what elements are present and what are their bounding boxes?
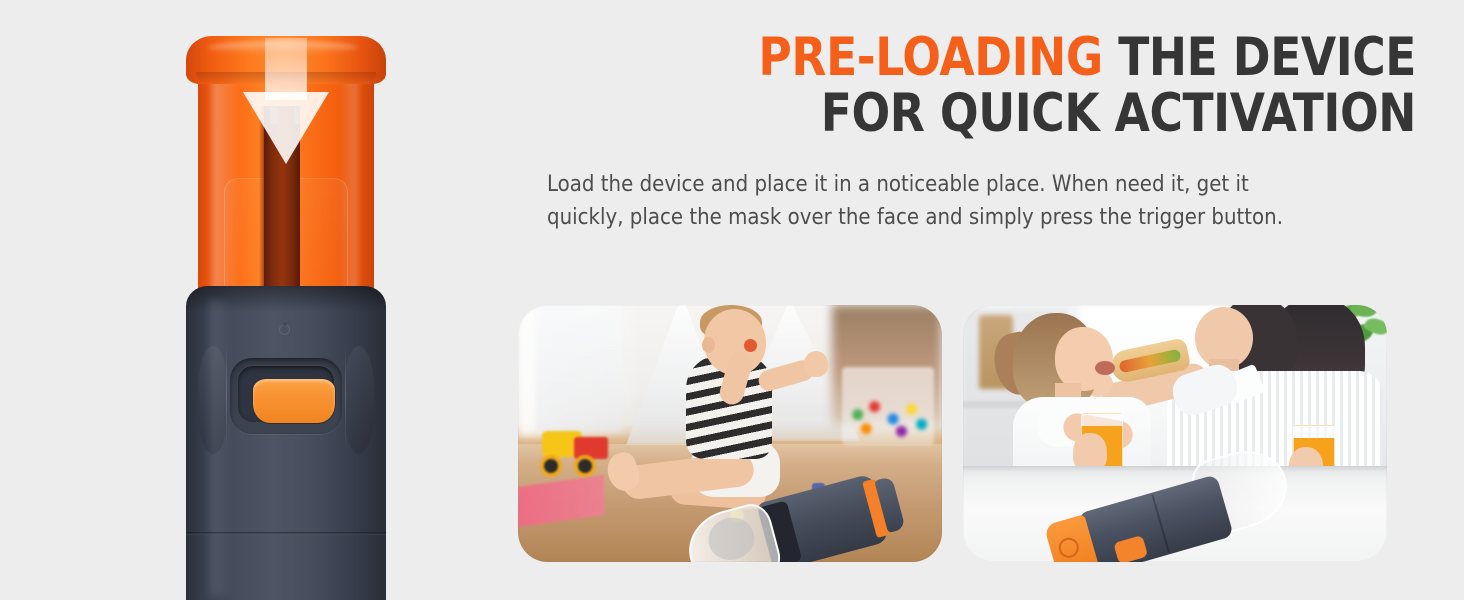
headline-line1-rest: THE DEVICE (1118, 27, 1416, 88)
arrow-shaft (265, 38, 307, 100)
toy-storage-bin (842, 367, 934, 445)
kitchen-scene (963, 305, 1387, 562)
device-housing (186, 286, 386, 600)
description-paragraph: Load the device and place it in a notice… (547, 168, 1294, 234)
baby-ear (702, 337, 715, 353)
headline-line2: FOR QUICK ACTIVATION (821, 83, 1416, 144)
photo-card-family-kitchen (963, 305, 1387, 562)
trigger-recess-inner (237, 365, 335, 423)
arrow-head (243, 92, 329, 164)
trigger-button[interactable] (252, 378, 336, 424)
girl-head (1055, 327, 1113, 391)
product-feature-banner: PRE-LOADING THE DEVICEFOR QUICK ACTIVATI… (0, 0, 1464, 600)
housing-edge-left (226, 342, 227, 452)
press-down-arrow-icon (243, 38, 329, 178)
truck-wheel-rear (574, 455, 596, 477)
product-image-pane (0, 0, 500, 600)
page-title: PRE-LOADING THE DEVICEFOR QUICK ACTIVATI… (652, 30, 1416, 142)
housing-wing-left (198, 346, 228, 454)
nursery-scene (518, 305, 942, 562)
baby-hand (804, 351, 828, 377)
content-pane: PRE-LOADING THE DEVICEFOR QUICK ACTIVATI… (500, 0, 1464, 600)
housing-edge-right (345, 342, 346, 452)
photo-card-baby-playing (518, 305, 942, 562)
housing-wing-right (344, 346, 374, 454)
girl-open-mouth (1095, 361, 1115, 375)
housing-seam-line (186, 532, 386, 535)
headline-accent: PRE-LOADING (758, 27, 1102, 88)
baby-held-food (744, 339, 757, 352)
truck-wheel-front (540, 455, 562, 477)
toy-truck (534, 425, 612, 481)
trigger-recess (230, 358, 342, 434)
anti-choking-device-render (186, 36, 386, 600)
status-indicator-icon (279, 324, 290, 335)
teepee-far-left (536, 305, 622, 433)
